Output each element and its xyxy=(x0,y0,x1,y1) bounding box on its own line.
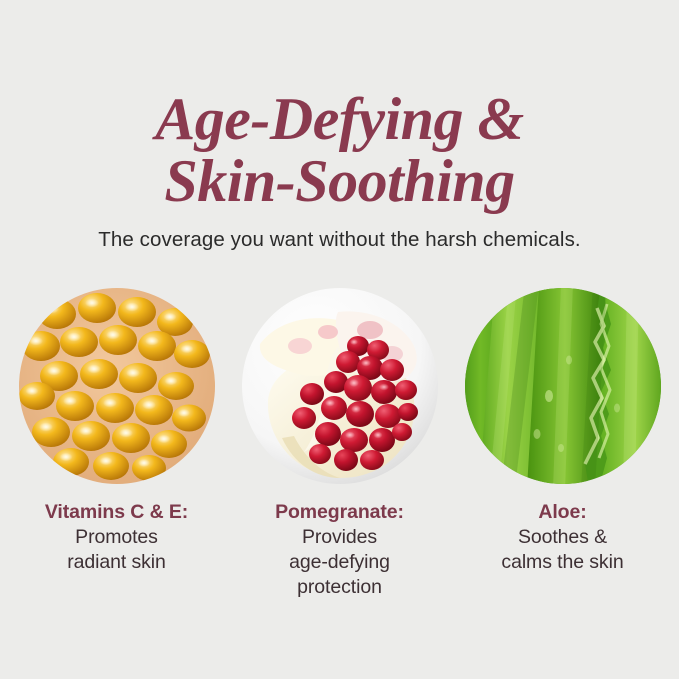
ingredient-caption-vitamins: Vitamins C & E: Promotes radiant skin xyxy=(45,500,188,575)
ingredient-column-vitamins: Vitamins C & E: Promotes radiant skin xyxy=(19,288,215,575)
ingredient-title: Vitamins C & E: xyxy=(45,500,188,525)
ingredient-title: Aloe: xyxy=(501,500,623,525)
pomegranate-photo xyxy=(242,288,438,484)
page-subtitle: The coverage you want without the harsh … xyxy=(0,228,679,252)
ingredient-caption-aloe: Aloe: Soothes & calms the skin xyxy=(501,500,623,575)
ingredient-body-line: radiant skin xyxy=(45,550,188,575)
ingredient-caption-pomegranate: Pomegranate: Provides age-defying protec… xyxy=(275,500,404,600)
headline-line-1: Age-Defying & xyxy=(0,88,679,150)
ingredient-body-line: Soothes & xyxy=(501,525,623,550)
ingredient-body-line: Provides xyxy=(275,525,404,550)
page-headline: Age-Defying & Skin-Soothing xyxy=(0,88,679,212)
ingredient-benefits-infographic: Age-Defying & Skin-Soothing The coverage… xyxy=(0,0,679,679)
ingredient-title: Pomegranate: xyxy=(275,500,404,525)
aloe-vera-leaves-photo xyxy=(465,288,661,484)
ingredient-body: Soothes & calms the skin xyxy=(501,525,623,575)
ingredient-body-line: calms the skin xyxy=(501,550,623,575)
ingredient-body: Promotes radiant skin xyxy=(45,525,188,575)
ingredient-columns: Vitamins C & E: Promotes radiant skin xyxy=(0,288,679,600)
ingredient-body-line: age-defying xyxy=(275,550,404,575)
ingredient-body: Provides age-defying protection xyxy=(275,525,404,600)
ingredient-body-line: Promotes xyxy=(45,525,188,550)
ingredient-body-line: protection xyxy=(275,575,404,600)
vitamin-softgel-capsules-photo xyxy=(19,288,215,484)
headline-line-2: Skin-Soothing xyxy=(0,150,679,212)
ingredient-column-aloe: Aloe: Soothes & calms the skin xyxy=(465,288,661,575)
ingredient-column-pomegranate: Pomegranate: Provides age-defying protec… xyxy=(242,288,438,600)
